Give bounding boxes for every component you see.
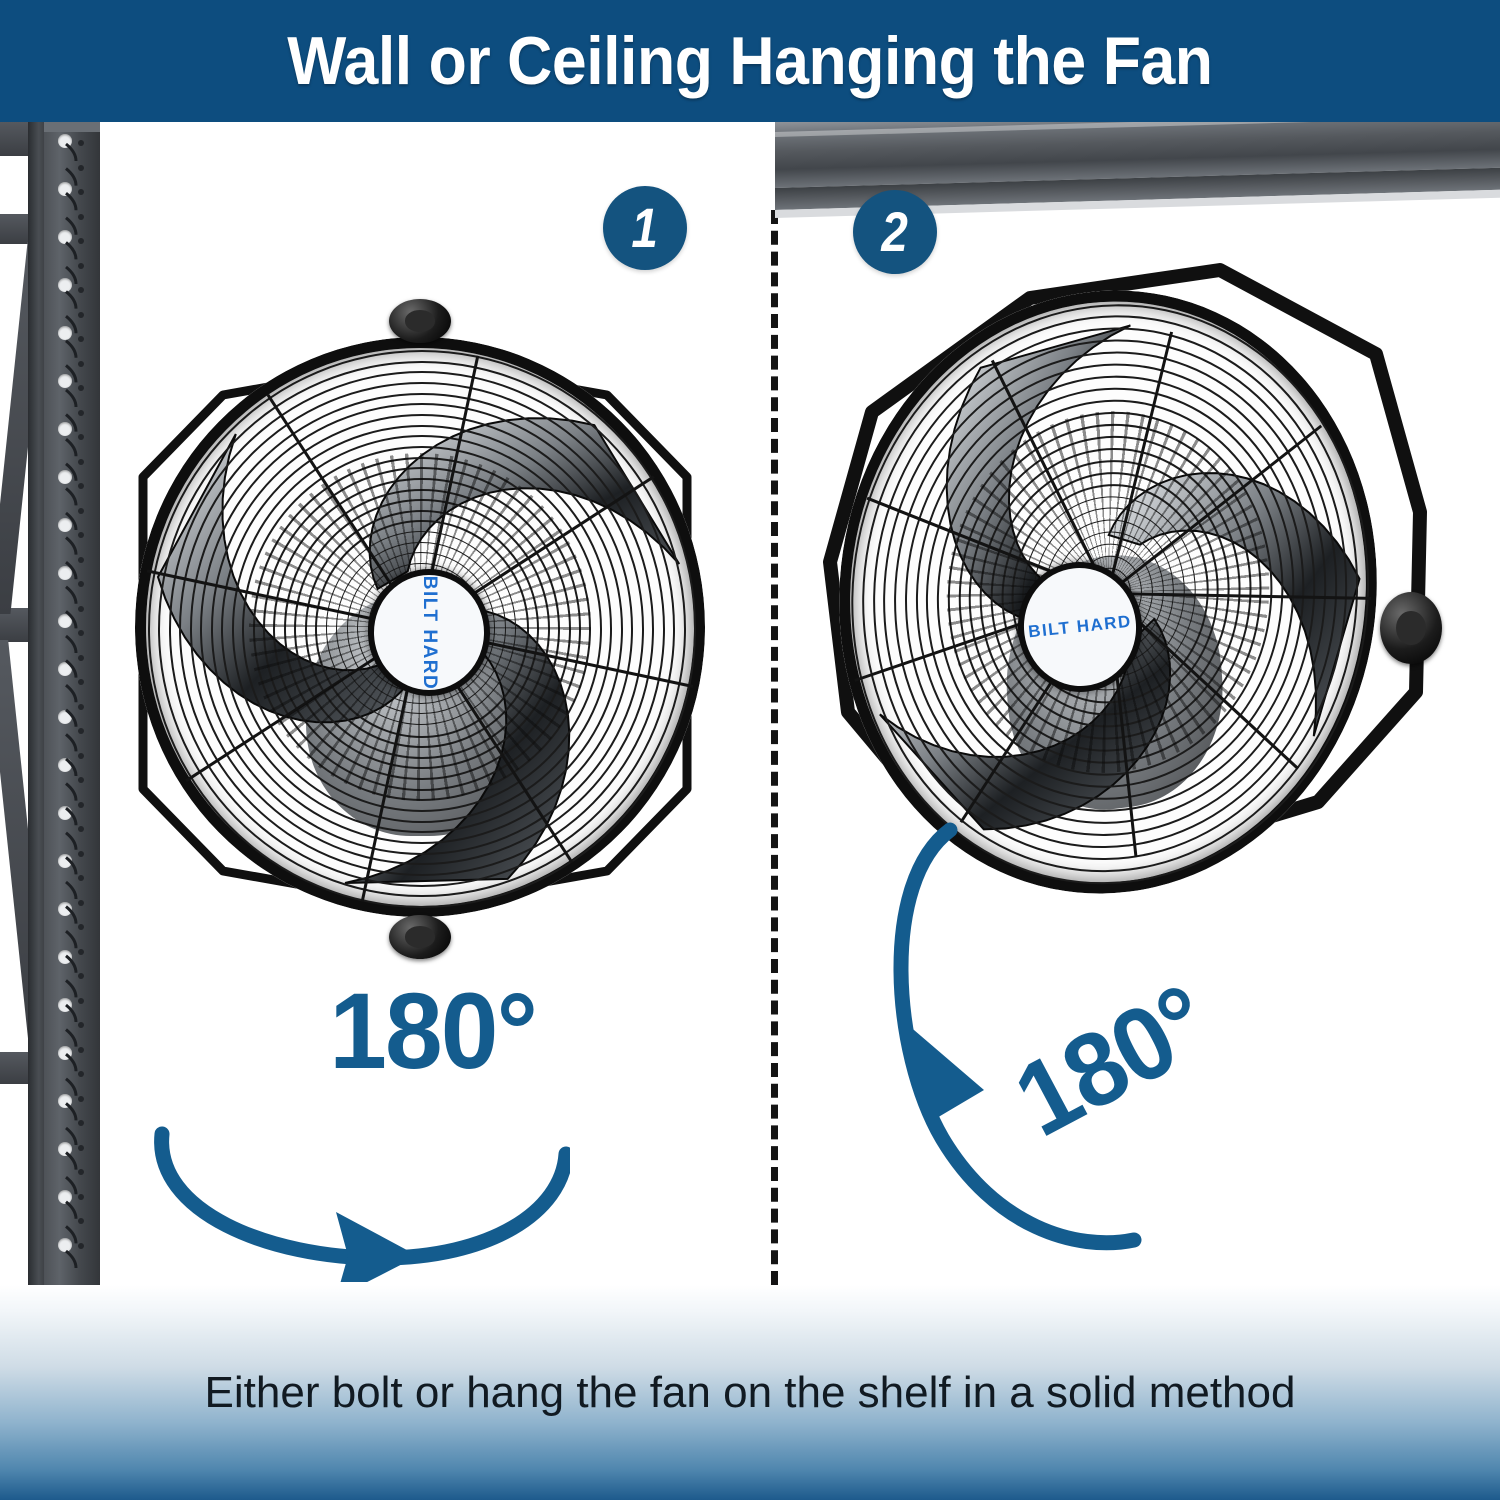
page-title: Wall or Ceiling Hanging the Fan (287, 22, 1212, 100)
illustration-stage: BILT HARD BILT HARD 180° 180° (0, 122, 1500, 1285)
fan2-brand-label: BILT HARD (1027, 612, 1132, 643)
step-badge-number: 2 (882, 204, 908, 260)
header-banner: Wall or Ceiling Hanging the Fan (0, 0, 1500, 122)
rotation-value-left: 180 (329, 970, 496, 1091)
shelving-upright (0, 122, 112, 1285)
beam-highlight (775, 122, 1500, 137)
panel-divider (771, 210, 778, 1285)
step-badge-number: 1 (632, 200, 658, 256)
fan1-brand-label: BILT HARD (418, 575, 440, 689)
infographic-page: Wall or Ceiling Hanging the Fan (0, 0, 1500, 1500)
rack-column-cap (44, 122, 100, 132)
footer-caption-bar: Either bolt or hang the fan on the shelf… (0, 1285, 1500, 1500)
fan2-tilt-knob[interactable] (1380, 592, 1442, 664)
step-badge-one: 1 (603, 186, 687, 270)
step-badge-two: 2 (853, 190, 937, 274)
curved-rotation-arrow-horizontal-icon (150, 1062, 570, 1282)
fan1-bottom-knob[interactable] (389, 915, 451, 959)
fan1-top-knob[interactable] (389, 299, 451, 343)
rotation-label-left: 180° (329, 977, 536, 1085)
footer-caption: Either bolt or hang the fan on the shelf… (205, 1368, 1296, 1418)
fan-unit-wall-mounted: BILT HARD (115, 277, 715, 977)
rack-slot-curves (60, 138, 94, 1274)
degree-symbol-left: ° (497, 970, 537, 1091)
fan1-hub: BILT HARD (368, 569, 490, 696)
